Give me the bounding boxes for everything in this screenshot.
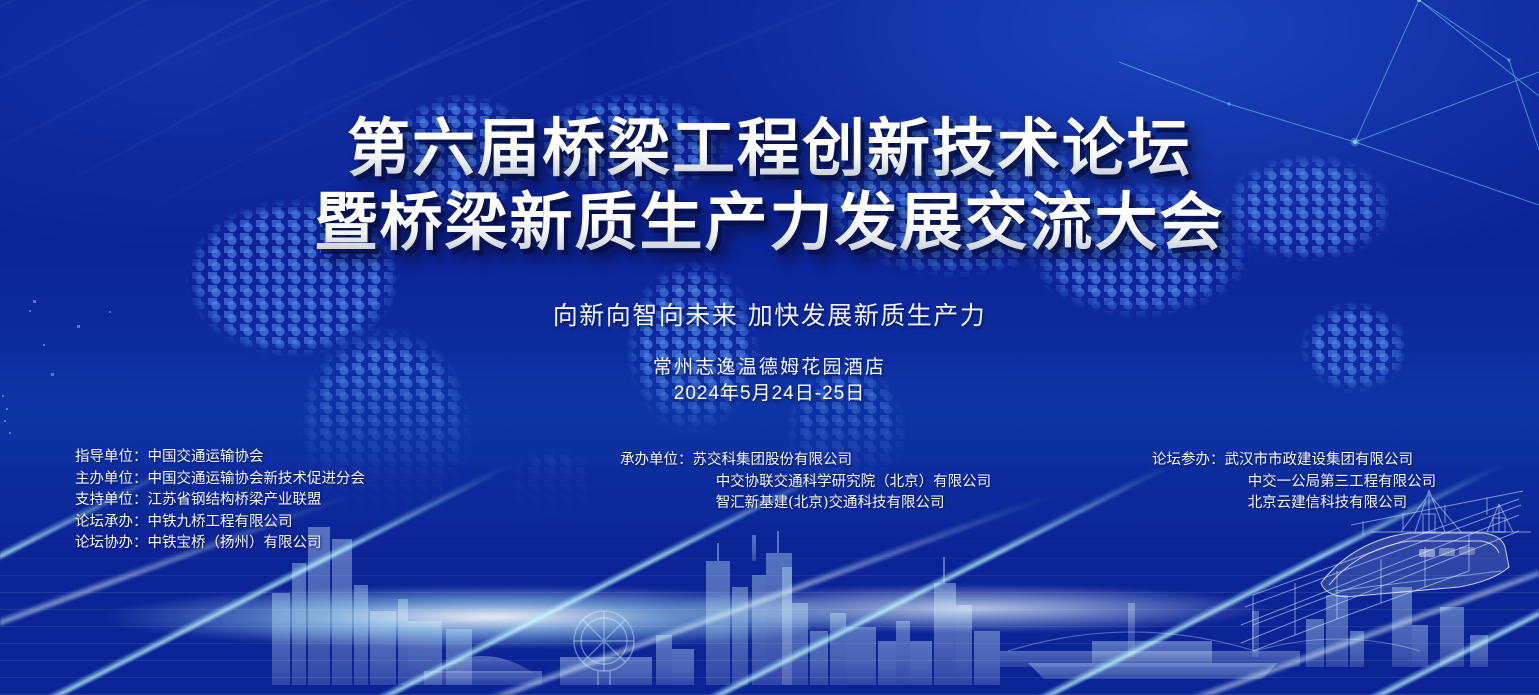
org-label: 支持单位： (75, 490, 148, 512)
org-row: 中交一公局第三工程有限公司 (1152, 472, 1436, 494)
org-value: 中铁九桥工程有限公司 (148, 514, 293, 530)
org-row: 承办单位：苏交科集团股份有限公司 (620, 450, 991, 472)
organizations-right-column: 论坛参办：武汉市市政建设集团有限公司 中交一公局第三工程有限公司 北京云建信科技… (1152, 450, 1436, 515)
org-label: 承办单位： (620, 450, 693, 472)
org-row: 论坛参办：武汉市市政建设集团有限公司 (1152, 450, 1436, 472)
organizations-section: 指导单位：中国交通运输协会 主办单位：中国交通运输协会新技术促进分会 支持单位：… (0, 447, 1539, 567)
org-value: 中国交通运输协会 (148, 449, 264, 465)
org-value: 中国交通运输协会新技术促进分会 (148, 471, 366, 487)
organizations-middle-column: 承办单位：苏交科集团股份有限公司 中交协联交通科学研究院（北京）有限公司 智汇新… (620, 450, 991, 515)
org-row: 论坛承办：中铁九桥工程有限公司 (75, 512, 365, 534)
org-value: 中交一公局第三工程有限公司 (1248, 474, 1437, 490)
org-row: 中交协联交通科学研究院（北京）有限公司 (620, 472, 991, 494)
title-line-1: 第六届桥梁工程创新技术论坛 (0, 112, 1539, 186)
conference-banner: 第六届桥梁工程创新技术论坛 暨桥梁新质生产力发展交流大会 向新向智向未来 加快发… (0, 0, 1539, 695)
organizations-left-column: 指导单位：中国交通运输协会 主办单位：中国交通运输协会新技术促进分会 支持单位：… (75, 447, 365, 555)
org-label: 指导单位： (75, 447, 148, 469)
org-row: 支持单位：江苏省钢结构桥梁产业联盟 (75, 490, 365, 512)
org-row: 智汇新基建(北京)交通科技有限公司 (620, 493, 991, 515)
org-row: 北京云建信科技有限公司 (1152, 493, 1436, 515)
banner-title: 第六届桥梁工程创新技术论坛 暨桥梁新质生产力发展交流大会 (0, 112, 1539, 260)
org-label: 论坛协办： (75, 533, 148, 555)
org-row: 指导单位：中国交通运输协会 (75, 447, 365, 469)
banner-slogan: 向新向智向未来 加快发展新质生产力 (0, 296, 1539, 332)
org-label: 论坛参办： (1152, 450, 1225, 472)
org-value: 江苏省钢结构桥梁产业联盟 (148, 492, 322, 508)
title-line-2: 暨桥梁新质生产力发展交流大会 (0, 186, 1539, 260)
org-value: 苏交科集团股份有限公司 (693, 452, 853, 468)
org-value: 中铁宝桥（扬州）有限公司 (148, 535, 322, 551)
org-label: 主办单位： (75, 469, 148, 491)
org-value: 智汇新基建(北京)交通科技有限公司 (716, 495, 945, 511)
org-row: 主办单位：中国交通运输协会新技术促进分会 (75, 469, 365, 491)
venue-text: 常州志逸温德姆花园酒店 (0, 352, 1539, 379)
org-label: 论坛承办： (75, 512, 148, 534)
org-value: 中交协联交通科学研究院（北京）有限公司 (716, 474, 992, 490)
dates-text: 2024年5月24日-25日 (0, 378, 1539, 405)
org-value: 武汉市市政建设集团有限公司 (1225, 452, 1414, 468)
org-value: 北京云建信科技有限公司 (1248, 495, 1408, 511)
org-row: 论坛协办：中铁宝桥（扬州）有限公司 (75, 533, 365, 555)
